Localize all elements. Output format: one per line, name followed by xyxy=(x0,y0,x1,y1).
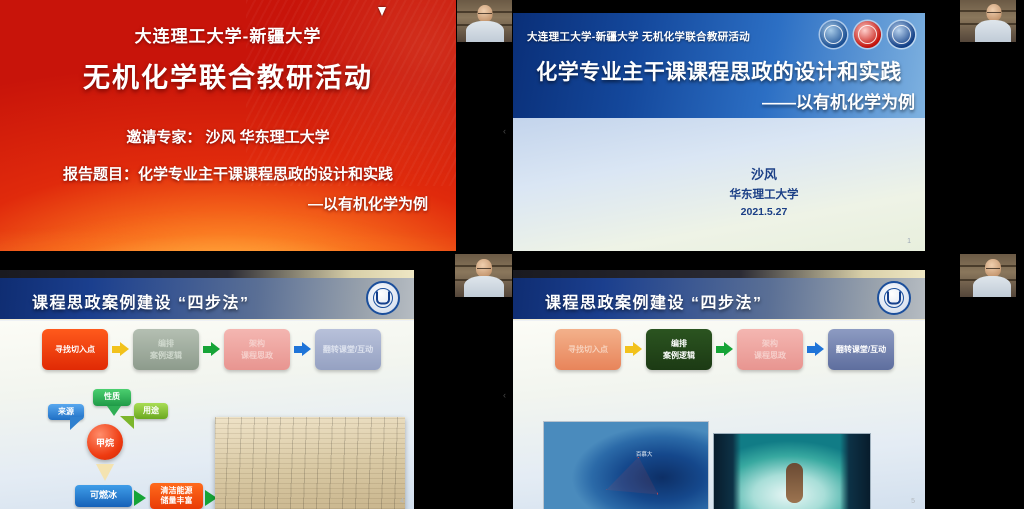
dut-seal-logo-icon-2 xyxy=(877,281,911,315)
panel-collapse-arrow-bottom[interactable]: ‹ xyxy=(503,390,506,400)
participant-thumbnail-1[interactable] xyxy=(457,0,512,42)
shared-screen-four-step-slide-left[interactable]: 课程思政案例建设 “四步法” 寻找切入点 编排 案例逻辑 架构 xyxy=(0,270,414,509)
blue-slide-header: 大连理工大学-新疆大学 无机化学联合教研活动 化学专业主干课课程思政的设计和实践… xyxy=(513,13,925,118)
slide-right-header: 课程思政案例建设 “四步法” xyxy=(513,278,925,320)
step-1-label-top: 寻找切入点 xyxy=(55,344,95,356)
step-r2-label-bottom: 案例逻辑 xyxy=(663,350,695,362)
step-box-3: 架构 课程思政 xyxy=(224,329,290,370)
dut-seal-logo-icon xyxy=(366,281,400,315)
mindmap-center-node: 甲烷 xyxy=(87,424,123,460)
ecust-logo-icon xyxy=(820,21,847,48)
slide-right-body: 寻找切入点 编排 案例逻辑 架构 课程思政 xyxy=(513,321,925,509)
blue-slide-date: 2021.5.27 xyxy=(513,206,925,218)
blue-slide-subtitle: ——以有机化学为例 xyxy=(762,88,915,113)
slide-right-page-number: 5 xyxy=(911,498,915,505)
step-box-2: 编排 案例逻辑 xyxy=(133,329,199,370)
slide-left-header-title: 课程思政案例建设 “四步法” xyxy=(32,289,249,313)
red-slide-content: 大连理工大学-新疆大学 无机化学联合教研活动 邀请专家： 沙风 华东理工大学 报… xyxy=(0,0,456,251)
thumb2-body xyxy=(975,20,1011,42)
step-box-1: 寻找切入点 xyxy=(42,329,108,370)
blue-slide-affiliation: 华东理工大学 xyxy=(513,186,925,202)
blue-slide-title: 化学专业主干课课程思政的设计和实践 xyxy=(521,56,917,86)
blue-slide-header-subtitle: 大连理工大学-新疆大学 无机化学联合教研活动 xyxy=(527,29,750,44)
slide-left-body: 寻找切入点 编排 案例逻辑 架构 课程思政 xyxy=(0,321,414,509)
pool-photo-edge-left xyxy=(714,434,741,509)
slide-right-step-flow: 寻找切入点 编排 案例逻辑 架构 课程思政 xyxy=(555,329,894,370)
slide-left-step-flow: 寻找切入点 编排 案例逻辑 架构 课程思政 xyxy=(42,329,381,370)
mouse-cursor xyxy=(378,7,386,16)
arrow-icon-r2 xyxy=(716,342,733,357)
red-slide-line2: 无机化学联合教研活动 xyxy=(0,56,456,95)
step-r3-label-bottom: 课程思政 xyxy=(754,350,786,362)
mindmap-arrow-down xyxy=(96,464,114,481)
arrow-icon-2 xyxy=(203,342,220,357)
slide-left-page-number: 4 xyxy=(400,498,404,505)
diving-pool-photo xyxy=(713,433,871,509)
mindmap-branch-top: 性质 xyxy=(93,389,131,406)
step-r1-label-top: 寻找切入点 xyxy=(568,344,608,356)
arrow-icon-r3 xyxy=(807,342,824,357)
pool-photo-edge-right xyxy=(840,434,870,509)
bermuda-label: 百慕大 xyxy=(636,450,653,458)
thumb4-body xyxy=(973,276,1011,297)
pool-diver xyxy=(786,463,803,503)
step-box-r3: 架构 课程思政 xyxy=(737,329,803,370)
step-box-r1: 寻找切入点 xyxy=(555,329,621,370)
mindmap-result-2: 清洁能源 储量丰富 xyxy=(150,483,203,509)
mindmap-branch-right: 用途 xyxy=(134,403,168,419)
thumb2-glasses xyxy=(987,12,1001,15)
red-slide-line3: 邀请专家： 沙风 华东理工大学 xyxy=(0,126,456,147)
slide-left-header: 课程思政案例建设 “四步法” xyxy=(0,278,414,320)
step-3-label-top: 架构 xyxy=(249,338,265,350)
slide-right-header-title: 课程思政案例建设 “四步法” xyxy=(545,289,762,313)
xju-logo-icon xyxy=(888,21,915,48)
arrow-icon-3 xyxy=(294,342,311,357)
blue-slide-body: 沙风 华东理工大学 2021.5.27 1 xyxy=(513,118,925,251)
handwritten-documents-photo xyxy=(215,417,405,509)
dut-logo-icon xyxy=(854,21,881,48)
slide-left-top-band xyxy=(0,270,414,278)
shared-screen-red-title-slide[interactable]: 大连理工大学-新疆大学 无机化学联合教研活动 邀请专家： 沙风 华东理工大学 报… xyxy=(0,0,456,251)
thumb3-body xyxy=(464,276,504,297)
meeting-stage: 大连理工大学-新疆大学 无机化学联合教研活动 邀请专家： 沙风 华东理工大学 报… xyxy=(0,0,1024,509)
step-box-r4: 翻转课堂/互动 xyxy=(828,329,894,370)
step-box-4: 翻转课堂/互动 xyxy=(315,329,381,370)
bermuda-triangle-map-photo: 百慕大 xyxy=(543,421,709,509)
participant-thumbnail-4[interactable] xyxy=(960,254,1016,297)
step-4-label-top: 翻转课堂/互动 xyxy=(323,344,373,356)
mindmap-arrow-right xyxy=(120,416,134,429)
thumb4-glasses xyxy=(986,268,1000,271)
shared-screen-four-step-slide-right[interactable]: 课程思政案例建设 “四步法” 寻找切入点 编排 案例逻辑 架构 xyxy=(513,270,925,509)
slide-right-top-band xyxy=(513,270,925,278)
mindmap-result-1: 可燃冰 xyxy=(75,485,132,507)
mindmap-arrow-r1 xyxy=(134,490,146,506)
university-logo-row xyxy=(820,21,915,48)
shared-screen-blue-title-slide[interactable]: 大连理工大学-新疆大学 无机化学联合教研活动 化学专业主干课课程思政的设计和实践… xyxy=(513,13,925,251)
blue-slide-speaker: 沙风 xyxy=(513,164,925,183)
step-r3-label-top: 架构 xyxy=(762,338,778,350)
arrow-icon-r1 xyxy=(625,342,642,357)
step-2-label-top: 编排 xyxy=(158,338,174,350)
mindmap-arrow-left xyxy=(70,417,84,430)
red-slide-line5: —以有机化学为例 xyxy=(308,193,428,214)
thumb3-glasses xyxy=(477,268,491,271)
red-slide-line1: 大连理工大学-新疆大学 xyxy=(0,22,456,47)
red-slide-line4: 报告题目：化学专业主干课课程思政的设计和实践 xyxy=(0,163,456,184)
participant-thumbnail-3[interactable] xyxy=(455,254,512,297)
thumb1-glasses xyxy=(478,13,492,16)
step-r4-label-top: 翻转课堂/互动 xyxy=(836,344,886,356)
blue-slide-page-number: 1 xyxy=(907,238,911,245)
thumb1-body xyxy=(466,21,504,42)
panel-collapse-arrow-top[interactable]: ‹ xyxy=(503,126,506,136)
step-box-r2: 编排 案例逻辑 xyxy=(646,329,712,370)
participant-thumbnail-2[interactable] xyxy=(960,0,1016,42)
mindmap-arrow-top xyxy=(107,406,121,416)
step-3-label-bottom: 课程思政 xyxy=(241,350,273,362)
step-r2-label-top: 编排 xyxy=(671,338,687,350)
bermuda-triangle-overlay xyxy=(606,457,658,503)
arrow-icon-1 xyxy=(112,342,129,357)
step-2-label-bottom: 案例逻辑 xyxy=(150,350,182,362)
